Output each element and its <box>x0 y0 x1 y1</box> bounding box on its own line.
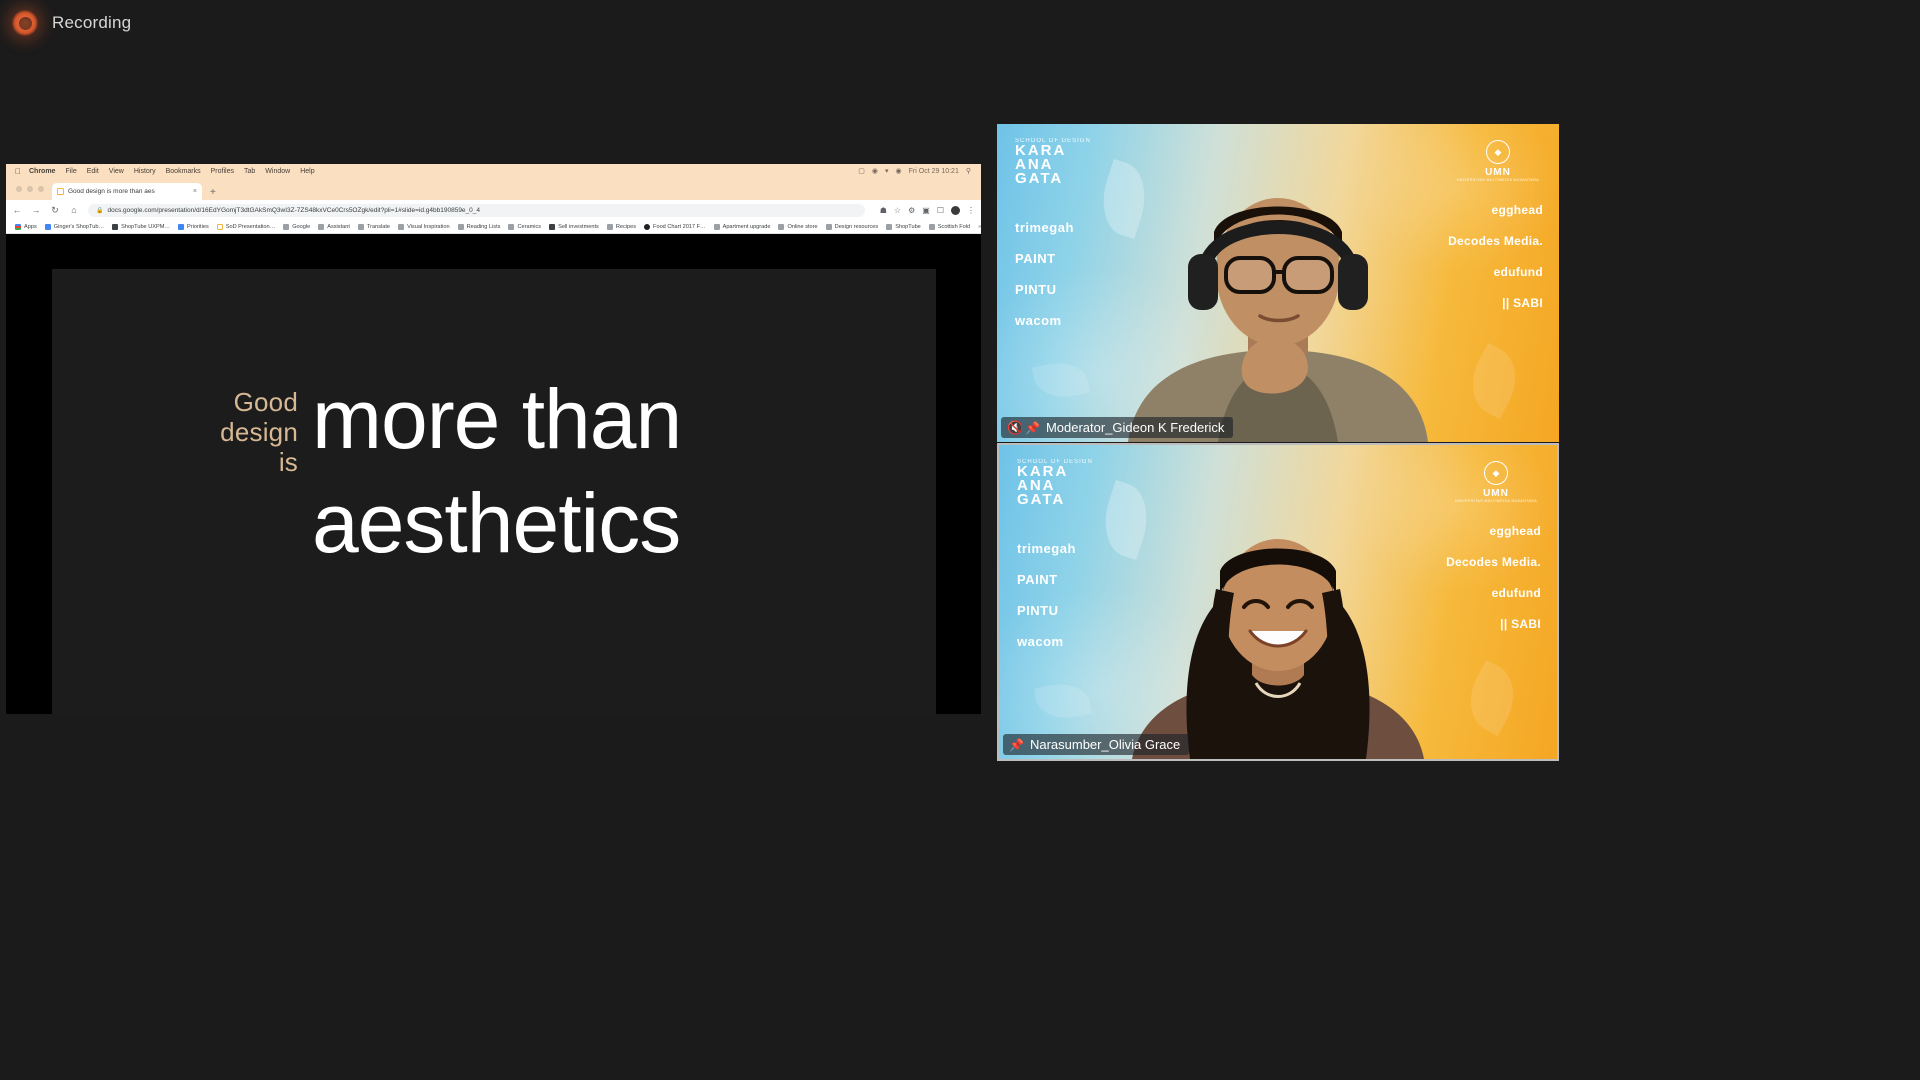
menu-item-window[interactable]: Window <box>260 168 295 175</box>
sponsor-decodes-media: Decodes Media. <box>1448 235 1543 248</box>
toolbar-right-icons: ☗ ☆ ⚙ ▣ ☐ ⋮ <box>874 206 975 215</box>
recording-indicator: Recording <box>0 0 400 46</box>
forward-arrow-icon[interactable]: → <box>31 205 41 215</box>
bookmark-recipes[interactable]: Recipes <box>603 224 640 230</box>
folder-icon <box>458 224 464 230</box>
slide-kicker: Good design is <box>202 373 312 477</box>
bookmark-shoptube-uxpm[interactable]: ShopTube UXPM… <box>108 224 174 230</box>
bookmark-label: Design resources <box>835 224 879 230</box>
menu-icon[interactable]: ⋮ <box>967 206 975 215</box>
bookmark-label: Assistant <box>327 224 350 230</box>
docs-icon <box>45 224 51 230</box>
event-subtitle: SCHOOL OF DESIGN <box>1017 459 1137 465</box>
slide-kicker-line2: design is <box>202 417 298 477</box>
bookmark-sell-investments[interactable]: Sell investments <box>545 224 603 230</box>
bookmark-online-store[interactable]: Online store <box>774 224 821 230</box>
slide-stage: Good design is more than aesthetics <box>6 269 981 714</box>
pin-icon[interactable]: 📌 <box>1025 421 1040 435</box>
cast-icon[interactable]: ☐ <box>937 206 944 215</box>
slides-icon <box>217 224 223 230</box>
bookmarks-overflow-icon[interactable]: » <box>974 224 981 230</box>
bookmark-assistant[interactable]: Assistant <box>314 224 354 230</box>
bookmark-apartment-upgrade[interactable]: Apartment upgrade <box>710 224 775 230</box>
bookmark-sod-presentation[interactable]: SoD Presentation… <box>213 224 279 230</box>
sheet-icon <box>112 224 118 230</box>
bookmark-google[interactable]: Google <box>279 224 314 230</box>
umn-ring-icon: ◆ <box>1486 140 1510 164</box>
sponsor-name: wacom <box>1015 313 1062 328</box>
participant-tile-moderator[interactable]: SCHOOL OF DESIGN KARAANAGATA trimegah PA… <box>997 124 1559 442</box>
browser-tab-strip: Good design is more than aes × + <box>6 178 981 200</box>
globe-icon <box>644 224 650 230</box>
plus-icon[interactable]: + <box>202 187 224 200</box>
site-icon <box>549 224 555 230</box>
participant-tile-speaker[interactable]: SCHOOL OF DESIGN KARAANAGATA trimegah PA… <box>997 443 1559 761</box>
pin-icon[interactable]: 📌 <box>1009 738 1024 752</box>
search-icon[interactable]: ⚲ <box>966 167 971 175</box>
screen-share-icon[interactable]: ◉ <box>872 167 878 175</box>
folder-icon <box>714 224 720 230</box>
close-window-button[interactable] <box>16 186 22 192</box>
maximize-window-button[interactable] <box>38 186 44 192</box>
sponsor-name: PINTU <box>1015 282 1057 297</box>
bookmark-design-resources[interactable]: Design resources <box>822 224 883 230</box>
extensions-icon[interactable]: ⚙ <box>908 206 915 215</box>
menu-item-chrome[interactable]: Chrome <box>24 168 60 175</box>
wifi-icon[interactable]: ▾ <box>885 167 889 175</box>
umn-ring-icon: ◆ <box>1484 461 1508 485</box>
sponsor-sabi: || SABI <box>1500 618 1541 631</box>
bookmark-apps[interactable]: Apps <box>11 224 41 230</box>
bookmark-priorities[interactable]: Priorities <box>174 224 213 230</box>
slide-kicker-spacer <box>202 477 312 491</box>
sponsor-egghead: egghead <box>1490 525 1541 538</box>
umn-label: UMN <box>1457 167 1539 178</box>
menu-item-view[interactable]: View <box>104 168 129 175</box>
bookmark-reading-lists[interactable]: Reading Lists <box>454 224 505 230</box>
home-icon[interactable]: ⌂ <box>69 205 79 215</box>
menu-item-edit[interactable]: Edit <box>82 168 104 175</box>
participant-name-bar: 🔇 📌 Moderator_Gideon K Frederick <box>1001 417 1233 438</box>
sponsor-name: trimegah <box>1017 541 1076 556</box>
meeting-screen: Recording  Chrome File Edit View Histor… <box>0 0 1920 1080</box>
slide-content: Good design is more than aesthetics <box>202 373 842 569</box>
bookmark-label: ShopTube UXPM… <box>121 224 170 230</box>
bookmark-label: Reading Lists <box>467 224 501 230</box>
shared-screen[interactable]:  Chrome File Edit View History Bookmark… <box>6 164 981 714</box>
folder-icon <box>778 224 784 230</box>
bookmark-translate[interactable]: Translate <box>354 224 394 230</box>
bookmark-label: Visual Inspiration <box>407 224 450 230</box>
event-branding: SCHOOL OF DESIGN KARAANAGATA <box>1015 138 1135 186</box>
back-arrow-icon[interactable]: ← <box>12 205 22 215</box>
folder-icon <box>508 224 514 230</box>
bookmark-label: Scottish Fold <box>938 224 970 230</box>
folder-icon <box>826 224 832 230</box>
event-title: KARAANAGATA <box>1017 465 1137 507</box>
apps-grid-icon <box>15 224 21 230</box>
sponsor-name: trimegah <box>1015 220 1074 235</box>
bookmark-label: Google <box>292 224 310 230</box>
address-bar-url: docs.google.com/presentation/d/16EdYGomj… <box>107 207 480 214</box>
event-subtitle: SCHOOL OF DESIGN <box>1015 138 1135 144</box>
share-icon[interactable]: ☗ <box>880 206 887 215</box>
folder-icon <box>283 224 289 230</box>
sponsor-name: PINTU <box>1017 603 1059 618</box>
event-branding: SCHOOL OF DESIGN KARAANAGATA <box>1017 459 1137 507</box>
sponsor-sabi: || SABI <box>1502 297 1543 310</box>
mic-off-icon[interactable]: 🔇 <box>1007 420 1019 436</box>
umn-sublabel: UNIVERSITAS MULTIMEDIA NUSANTARA <box>1457 178 1539 182</box>
participant-video-speaker <box>1098 519 1458 759</box>
slide-line-1: Good design is more than <box>202 373 842 477</box>
bookmark-label: ShopTube <box>895 224 921 230</box>
sponsor-name: PAINT <box>1017 572 1058 587</box>
participant-name: Moderator_Gideon K Frederick <box>1046 420 1224 435</box>
sponsor-decodes-media: Decodes Media. <box>1446 556 1541 569</box>
umn-sublabel: UNIVERSITAS MULTIMEDIA NUSANTARA <box>1455 499 1537 503</box>
bookmark-label: Online store <box>787 224 817 230</box>
bookmark-label: Food Chart 2017 F… <box>653 224 706 230</box>
docs-icon <box>178 224 184 230</box>
menubar-status-icons: ▢ ◉ ▾ ◉ Fri Oct 29 10:21 ⚲ <box>858 167 975 175</box>
window-traffic-lights[interactable] <box>14 178 52 200</box>
browser-window:  Chrome File Edit View History Bookmark… <box>6 164 981 269</box>
bookmark-shoptube[interactable]: ShopTube <box>882 224 925 230</box>
bookmark-scottish-fold[interactable]: Scottish Fold <box>925 224 974 230</box>
bookmark-gingers-shoptube[interactable]: Ginger's ShopTub… <box>41 224 108 230</box>
slide-headline-line1: more than <box>312 373 681 465</box>
bookmarks-bar: Apps Ginger's ShopTub… ShopTube UXPM… Pr… <box>6 220 981 234</box>
sponsor-name: SABI <box>1511 617 1541 631</box>
sponsor-egghead: egghead <box>1492 204 1543 217</box>
menu-item-bookmarks[interactable]: Bookmarks <box>161 168 206 175</box>
puzzle-icon[interactable]: ▣ <box>922 206 930 215</box>
browser-tab[interactable]: Good design is more than aes × <box>52 183 202 200</box>
participant-name: Narasumber_Olivia Grace <box>1030 737 1180 752</box>
bookmark-food-chart[interactable]: Food Chart 2017 F… <box>640 224 710 230</box>
menu-item-history[interactable]: History <box>129 168 161 175</box>
mac-menu-bar:  Chrome File Edit View History Bookmark… <box>6 164 981 178</box>
folder-icon <box>607 224 613 230</box>
folder-icon <box>318 224 324 230</box>
bookmark-label: Translate <box>367 224 390 230</box>
participant-name-bar: 📌 Narasumber_Olivia Grace <box>1003 734 1189 755</box>
sponsor-name: wacom <box>1017 634 1064 649</box>
bookmark-ceramics[interactable]: Ceramics <box>504 224 545 230</box>
browser-toolbar: ← → ↻ ⌂ 🔒 docs.google.com/presentation/d… <box>6 200 981 220</box>
browser-tab-title: Good design is more than aes <box>68 188 189 195</box>
slide-headline-line2: aesthetics <box>312 477 680 569</box>
bookmark-label: SoD Presentation… <box>226 224 275 230</box>
bookmark-label: Apps <box>24 224 37 230</box>
menu-item-profiles[interactable]: Profiles <box>206 168 239 175</box>
lock-icon: 🔒 <box>96 207 103 214</box>
slide-kicker-line1: Good <box>202 387 298 417</box>
menu-item-help[interactable]: Help <box>295 168 319 175</box>
participant-video-moderator <box>1108 192 1448 442</box>
bookmark-label: Recipes <box>616 224 636 230</box>
profile-avatar[interactable] <box>951 206 960 215</box>
umn-logo: ◆ UMN UNIVERSITAS MULTIMEDIA NUSANTARA <box>1457 140 1539 182</box>
presentation-slide[interactable]: Good design is more than aesthetics <box>52 269 936 714</box>
bookmark-label: Sell investments <box>558 224 599 230</box>
reload-icon[interactable]: ↻ <box>50 205 60 216</box>
record-dot-icon <box>12 10 38 36</box>
sponsor-edufund: edufund <box>1494 266 1543 279</box>
bookmark-label: Ginger's ShopTub… <box>54 224 104 230</box>
menubar-clock[interactable]: Fri Oct 29 10:21 <box>909 168 959 175</box>
menu-item-file[interactable]: File <box>60 168 81 175</box>
apple-logo-icon[interactable]:  <box>12 167 24 176</box>
close-icon[interactable]: × <box>193 188 197 195</box>
umn-logo: ◆ UMN UNIVERSITAS MULTIMEDIA NUSANTARA <box>1455 461 1537 503</box>
recording-label: Recording <box>52 13 131 33</box>
folder-icon <box>358 224 364 230</box>
address-bar[interactable]: 🔒 docs.google.com/presentation/d/16EdYGo… <box>88 204 865 217</box>
slides-favicon <box>57 188 64 195</box>
folder-icon <box>929 224 935 230</box>
bookmark-visual-inspiration[interactable]: Visual Inspiration <box>394 224 454 230</box>
menu-item-tab[interactable]: Tab <box>239 168 260 175</box>
bookmark-label: Priorities <box>187 224 209 230</box>
folder-icon <box>398 224 404 230</box>
event-title: KARAANAGATA <box>1015 144 1135 186</box>
sponsor-name: PAINT <box>1015 251 1056 266</box>
minimize-window-button[interactable] <box>27 186 33 192</box>
sponsor-name: SABI <box>1513 296 1543 310</box>
star-icon[interactable]: ☆ <box>894 206 901 215</box>
slide-line-2: aesthetics <box>202 477 842 569</box>
battery-icon[interactable]: ▢ <box>858 167 865 175</box>
sponsor-edufund: edufund <box>1492 587 1541 600</box>
bookmark-label: Apartment upgrade <box>723 224 771 230</box>
folder-icon <box>886 224 892 230</box>
umn-label: UMN <box>1455 488 1537 499</box>
bookmark-label: Ceramics <box>517 224 541 230</box>
control-center-icon[interactable]: ◉ <box>896 167 902 175</box>
